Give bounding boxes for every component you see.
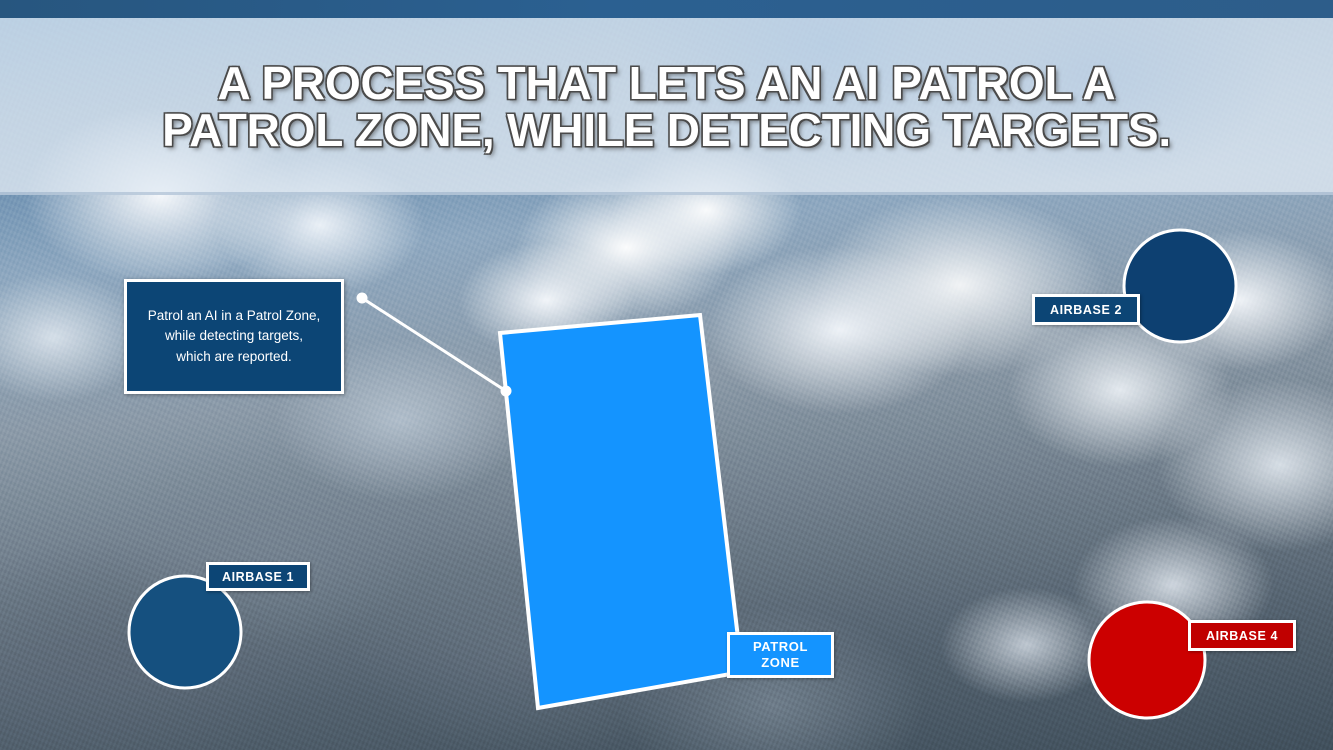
airbase-2-marker[interactable] (1124, 230, 1236, 342)
airbase-4-label[interactable]: AIRBASE 4 (1188, 620, 1296, 651)
leader-line-start-dot (357, 293, 368, 304)
airbase-1-label[interactable]: AIRBASE 1 (206, 562, 310, 591)
leader-line-end-dot (501, 386, 512, 397)
slide-canvas: A PROCESS THAT LETS AN AI PATROL A PATRO… (0, 0, 1333, 750)
description-line-2: while detecting targets, (165, 328, 303, 343)
description-line-1: Patrol an AI in a Patrol Zone, (148, 308, 321, 323)
description-text: Patrol an AI in a Patrol Zone, while det… (148, 306, 321, 367)
patrol-zone-label-line-1: PATROL (753, 639, 808, 655)
airbase-4-label-text: AIRBASE 4 (1206, 629, 1278, 643)
airbase-1-label-text: AIRBASE 1 (222, 570, 294, 584)
patrol-zone-polygon[interactable] (500, 315, 742, 708)
airbase-2-label[interactable]: AIRBASE 2 (1032, 294, 1140, 325)
patrol-zone-label[interactable]: PATROL ZONE (727, 632, 834, 678)
airbase-2-label-text: AIRBASE 2 (1050, 303, 1122, 317)
airbase-1-marker[interactable] (129, 576, 241, 688)
description-callout: Patrol an AI in a Patrol Zone, while det… (124, 279, 344, 394)
callout-leader-line (362, 298, 506, 391)
description-line-3: which are reported. (176, 349, 292, 364)
patrol-zone-label-line-2: ZONE (761, 655, 800, 671)
